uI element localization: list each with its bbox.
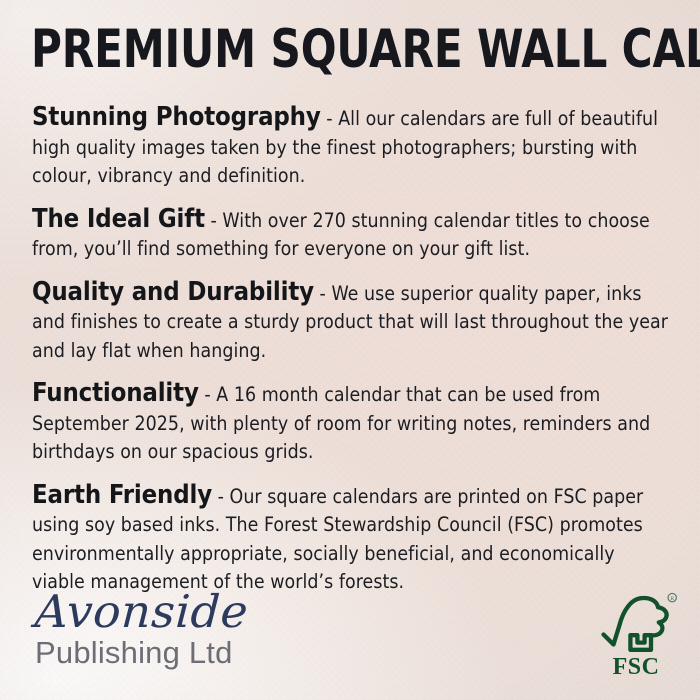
- feature-dash: -: [205, 209, 223, 232]
- feature-list: Stunning Photography - All our calendars…: [32, 103, 668, 597]
- feature-quality-and-durability: Quality and Durability - We use superior…: [32, 278, 668, 366]
- feature-title: Functionality: [32, 378, 199, 408]
- fsc-certification-logo: R FSC: [600, 592, 678, 678]
- feature-title: Earth Friendly: [32, 480, 212, 510]
- feature-title: Quality and Durability: [32, 277, 314, 307]
- feature-dash: -: [314, 282, 332, 305]
- fsc-tree-checkmark-icon: R: [600, 592, 678, 654]
- feature-title: The Ideal Gift: [32, 204, 205, 234]
- feature-dash: -: [199, 383, 217, 406]
- calendar-info-poster: PREMIUM SQUARE WALL CALENDARS Stunning P…: [0, 0, 700, 700]
- feature-functionality: Functionality - A 16 month calendar that…: [32, 379, 668, 467]
- feature-earth-friendly: Earth Friendly - Our square calendars ar…: [32, 481, 668, 597]
- svg-text:R: R: [670, 596, 674, 602]
- poster-content: PREMIUM SQUARE WALL CALENDARS Stunning P…: [0, 0, 700, 700]
- brand-subtitle: Publishing Ltd: [35, 636, 244, 670]
- brand-name: Avonside: [34, 588, 250, 635]
- page-title: PREMIUM SQUARE WALL CALENDARS: [31, 22, 602, 78]
- feature-dash: -: [321, 107, 339, 130]
- feature-title: Stunning Photography: [32, 102, 321, 132]
- fsc-label: FSC: [600, 655, 678, 679]
- feature-stunning-photography: Stunning Photography - All our calendars…: [32, 103, 668, 191]
- registered-trademark-icon: R: [668, 593, 676, 602]
- feature-the-ideal-gift: The Ideal Gift - With over 270 stunning …: [32, 205, 668, 264]
- brand-logo: Avonside Publishing Ltd: [35, 588, 244, 670]
- feature-dash: -: [212, 485, 230, 508]
